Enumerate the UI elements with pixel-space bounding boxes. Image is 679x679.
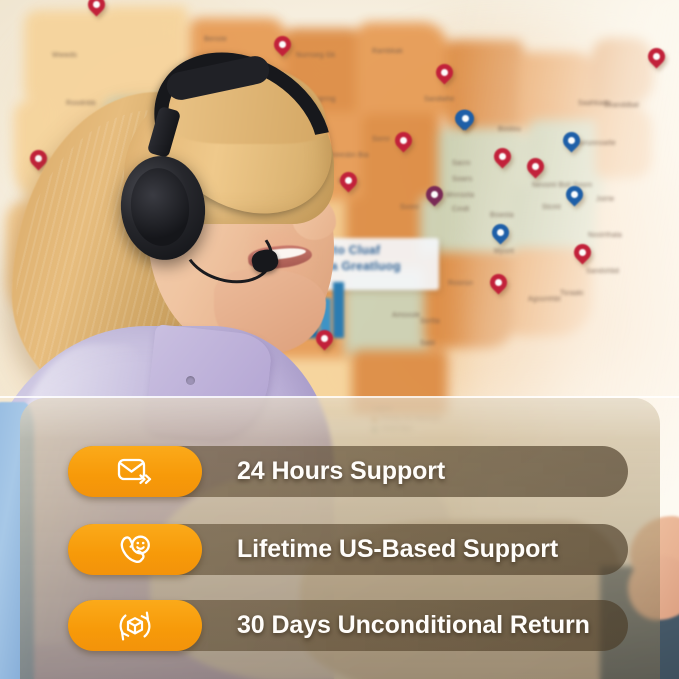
map-label: Bostou: [498, 126, 521, 133]
feature-icon-pill[interactable]: [68, 524, 202, 575]
feature-label: 30 Days Unconditional Return: [237, 611, 590, 640]
map-label: Agssmhbt: [528, 296, 561, 303]
map-label: Sabt: [420, 340, 435, 347]
map-label: Rosnsn: [448, 280, 473, 287]
map-pin-blue: [566, 186, 583, 210]
map-label: Sornr: [372, 136, 390, 143]
shirt-button: [186, 376, 195, 385]
map-pin-red: [436, 64, 453, 88]
map-label: Stcmt: [542, 204, 561, 211]
map-pin-red: [494, 148, 511, 172]
map-label: Sacni: [452, 160, 471, 167]
map-pin-blue: [457, 110, 474, 134]
map-label: Svanddbal: [604, 102, 639, 109]
envelope-fast-icon: [115, 455, 155, 489]
map-label: Amsvule: [392, 312, 420, 319]
map-label: Tsraaki: [560, 290, 584, 297]
map-pin-red: [574, 244, 591, 268]
phone-smile-icon: [116, 532, 154, 568]
map-pin-red: [648, 48, 665, 72]
feature-icon-pill[interactable]: [68, 600, 202, 651]
map-pin-red: [490, 274, 507, 298]
map-label: Bswsta: [490, 212, 514, 219]
map-pin-blue: [492, 224, 509, 248]
box-return-icon: [116, 607, 154, 645]
map-label: Sowrs: [452, 176, 472, 183]
map-label: Cindt: [452, 206, 469, 213]
map-pin-red: [395, 132, 412, 156]
map-pin-red: [527, 158, 544, 182]
feature-icon-pill[interactable]: [68, 446, 202, 497]
feature-label: 24 Hours Support: [237, 457, 445, 486]
map-label: Sandshbd: [586, 268, 619, 275]
map-label: Sandwhe: [424, 96, 455, 103]
map-pin-blue: [563, 132, 580, 156]
banner-stage: Wwwds Roodnbb Benste Bsr Nurnseg Gk Logr…: [0, 0, 679, 679]
map-label: Sortta: [420, 318, 440, 325]
map-label: Myunt: [494, 248, 514, 255]
map-label: Avrunnswlle: [576, 140, 616, 147]
map-label: Mnnsota: [446, 192, 474, 199]
map-label: Nostrthala: [588, 232, 622, 239]
map-label: Nevsml Bsll Sosrn: [532, 182, 592, 189]
map-label: Jstrte: [596, 196, 614, 203]
map-pin-plum: [426, 186, 443, 210]
map-label: Rambkak: [372, 48, 403, 55]
map-label: Svonr: [400, 204, 419, 211]
feature-label: Lifetime US-Based Support: [237, 535, 558, 564]
